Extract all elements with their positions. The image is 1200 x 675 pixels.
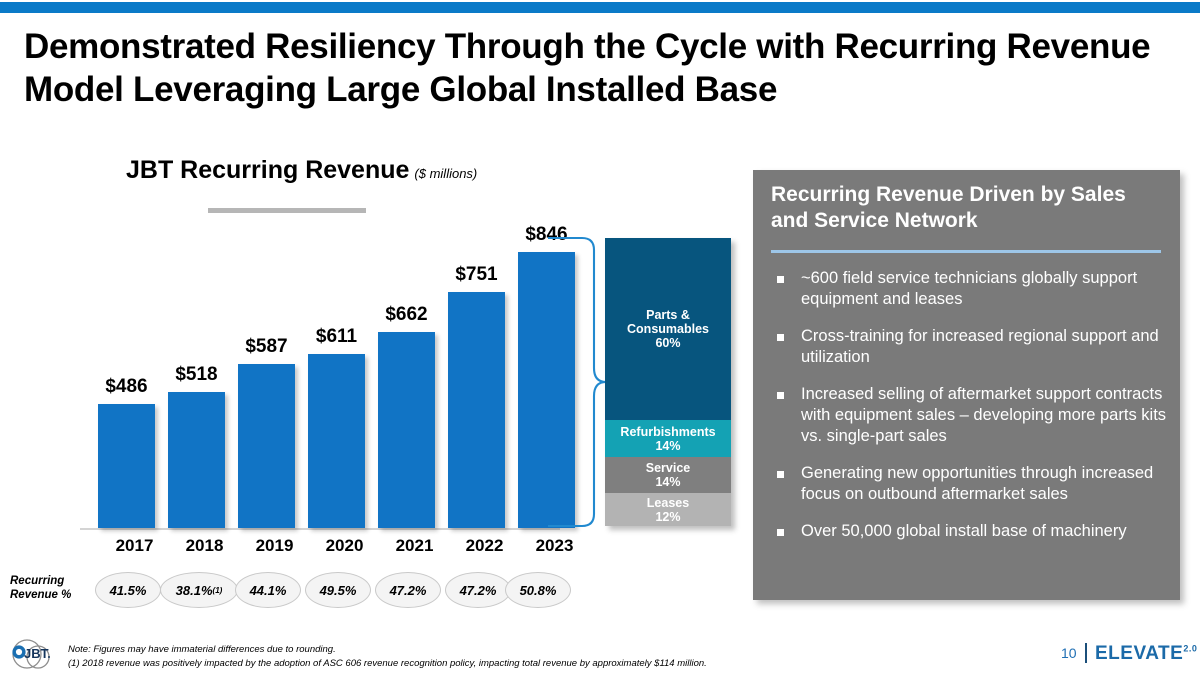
bullet-square-icon [777,471,784,478]
bar-2020[interactable] [308,354,365,528]
segment-percent: 14% [655,475,680,489]
segment-percent: 60% [655,336,680,350]
bar-2022[interactable] [448,292,505,528]
x-axis-label-2017: 2017 [98,536,171,556]
footer-note: Note: Figures may have immaterial differ… [68,643,828,671]
segment-percent: 14% [655,439,680,453]
top-accent-band [0,2,1200,13]
bar-2017[interactable] [98,404,155,528]
bar-2018[interactable] [168,392,225,528]
recurring-pct-2023: 50.8% [505,572,571,608]
recurring-pct-2017: 41.5% [95,572,161,608]
chart-heading: JBT Recurring Revenue($ millions) [126,156,477,185]
revenue-mix-stacked-bar: Parts & Consumables 60% Refurbishments 1… [605,238,731,526]
pct-value: 49.5% [320,583,357,598]
stack-segment-refurbishments[interactable]: Refurbishments 14% [605,420,731,457]
footer-note-line-1: Note: Figures may have immaterial differ… [68,643,828,657]
chart-axis-line [80,528,560,530]
bullet-text: Increased selling of aftermarket support… [801,384,1167,447]
panel-title: Recurring Revenue Driven by Sales and Se… [771,182,1163,235]
pct-value: 47.2% [390,583,427,598]
list-item: Increased selling of aftermarket support… [771,384,1167,447]
segment-percent: 12% [655,510,680,524]
recurring-pct-2021: 47.2% [375,572,441,608]
bullet-text: Cross-training for increased regional su… [801,326,1167,368]
panel-title-rule [771,250,1161,253]
pct-value: 50.8% [520,583,557,598]
brace-connector [548,236,610,533]
bar-value-label: $518 [160,364,233,386]
stack-segment-leases[interactable]: Leases 12% [605,493,731,526]
page-title: Demonstrated Resiliency Through the Cycl… [24,26,1174,111]
bar-value-label: $751 [440,264,513,286]
jbt-logo-icon: JBT [8,638,68,670]
list-item: Cross-training for increased regional su… [771,326,1167,368]
recurring-revenue-drivers-panel: Recurring Revenue Driven by Sales and Se… [753,170,1180,600]
bullet-square-icon [777,276,784,283]
bar-column-2022: $751 [448,292,505,528]
stack-segment-parts-consumables[interactable]: Parts & Consumables 60% [605,238,731,420]
bullet-text: ~600 field service technicians globally … [801,268,1167,310]
chart-heading-unit: ($ millions) [414,166,477,181]
segment-label-line1: Refurbishments [620,425,715,439]
page-number: 10 [1061,645,1077,661]
pct-value: 47.2% [460,583,497,598]
pct-value: 41.5% [110,583,147,598]
segment-label-line2: Consumables [627,322,709,336]
list-item: Generating new opportunities through inc… [771,463,1167,505]
bullet-text: Over 50,000 global install base of machi… [801,521,1127,542]
x-axis-label-2023: 2023 [518,536,591,556]
footer-note-line-2: (1) 2018 revenue was positively impacted… [68,657,828,671]
pct-value: 44.1% [250,583,287,598]
chart-heading-rule [208,208,366,213]
chart-heading-main: JBT Recurring Revenue [126,156,409,184]
x-axis-label-2021: 2021 [378,536,451,556]
list-item: ~600 field service technicians globally … [771,268,1167,310]
recurring-pct-2018: 38.1%(1) [160,572,238,608]
panel-bullet-list: ~600 field service technicians globally … [771,268,1167,558]
x-axis-label-2022: 2022 [448,536,521,556]
recurring-revenue-bar-chart: $486 $518 $587 $611 $662 $751 $846 [80,225,560,530]
bullet-square-icon [777,392,784,399]
bar-value-label: $587 [230,336,303,358]
bullet-text: Generating new opportunities through inc… [801,463,1167,505]
bar-column-2017: $486 [98,404,155,528]
x-axis-label-2018: 2018 [168,536,241,556]
recurring-pct-2019: 44.1% [235,572,301,608]
bar-value-label: $662 [370,304,443,326]
segment-label-line1: Leases [647,496,689,510]
segment-label-line1: Parts & [646,308,690,322]
stack-segment-service[interactable]: Service 14% [605,457,731,493]
bar-column-2021: $662 [378,332,435,528]
list-item: Over 50,000 global install base of machi… [771,521,1167,542]
rr-label-line2: Revenue % [10,589,71,601]
svg-text:JBT: JBT [24,646,49,661]
bar-value-label: $611 [300,326,373,348]
elevate-wordmark: ELEVATE [1095,643,1183,664]
bar-column-2020: $611 [308,354,365,528]
segment-label-line1: Service [646,461,690,475]
pct-footnote-marker: (1) [213,586,223,595]
recurring-pct-2022: 47.2% [445,572,511,608]
bar-2019[interactable] [238,364,295,528]
bar-column-2018: $518 [168,392,225,528]
slide-root: Demonstrated Resiliency Through the Cycl… [0,0,1200,675]
bullet-square-icon [777,529,784,536]
bar-column-2019: $587 [238,364,295,528]
footer-divider [1085,643,1087,663]
pct-value: 38.1% [176,583,213,598]
x-axis-label-2019: 2019 [238,536,311,556]
bar-2021[interactable] [378,332,435,528]
recurring-revenue-pct-row-label: Recurring Revenue % [10,574,82,602]
bar-value-label: $486 [90,376,163,398]
bullet-square-icon [777,334,784,341]
elevate-version: 2.0 [1183,644,1197,654]
recurring-pct-2020: 49.5% [305,572,371,608]
rr-label-line1: Recurring [10,575,64,587]
elevate-brand-mark: ELEVATE2.0 [1095,643,1197,665]
x-axis-label-2020: 2020 [308,536,381,556]
